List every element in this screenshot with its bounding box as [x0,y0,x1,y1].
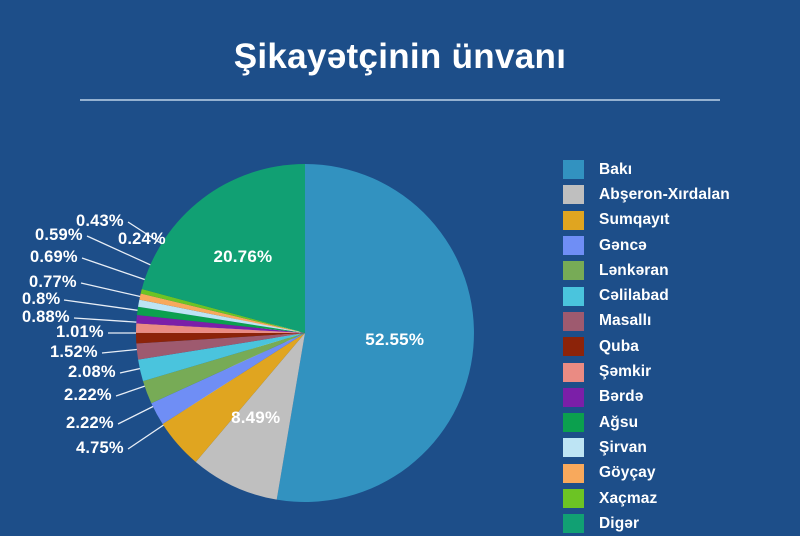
legend-color-swatch [563,489,584,508]
pie-callout-value-label: 2.08% [68,363,116,382]
legend-item[interactable]: Bərdə [563,385,793,410]
legend-item-label: Lənkəran [599,262,669,280]
legend-color-swatch [563,464,584,483]
legend-item[interactable]: Digər [563,511,793,536]
legend-item[interactable]: Şəmkir [563,359,793,384]
legend-color-swatch [563,185,584,204]
legend-item[interactable]: Ağsu [563,410,793,435]
pie-callout-value-label: 4.75% [76,439,124,458]
legend-item-label: Bakı [599,161,632,179]
legend-item-label: Quba [599,338,639,356]
title-block: Şikayətçinin ünvanı [0,38,800,77]
legend-color-swatch [563,287,584,306]
legend-color-swatch [563,413,584,432]
legend-item-label: Masallı [599,312,651,330]
pie-slice-value-label: 8.49% [231,408,280,428]
legend-item-label: Abşeron-Xırdalan [599,186,730,204]
legend-item[interactable]: Masallı [563,309,793,334]
page-title: Şikayətçinin ünvanı [0,38,800,77]
legend-color-swatch [563,388,584,407]
legend-item-label: Ağsu [599,414,638,432]
legend-item-label: Şirvan [599,439,647,457]
pie-callout-value-label: 1.01% [56,323,104,342]
pie-callout-value-label: 2.22% [64,386,112,405]
pie-slice-value-label: 20.76% [213,247,272,267]
pie-chart-infographic: Şikayətçinin ünvanı 52.55%8.49%20.76% 0.… [0,0,800,533]
legend-item[interactable]: Sumqayıt [563,208,793,233]
legend-item[interactable]: Lənkəran [563,258,793,283]
legend-color-swatch [563,312,584,331]
legend-item[interactable]: Göyçay [563,461,793,486]
legend-color-swatch [563,337,584,356]
legend-color-swatch [563,514,584,533]
legend-item[interactable]: Cəlilabad [563,283,793,308]
pie-callout-value-label: 0.8% [22,290,60,309]
legend-item-label: Şəmkir [599,363,651,381]
pie-callout-value-label: 0.24% [118,230,166,249]
pie-callout-value-label: 0.43% [76,212,124,231]
legend-color-swatch [563,438,584,457]
pie-callout-value-label: 0.69% [30,248,78,267]
pie-slice-value-label: 52.55% [365,330,424,350]
legend-item[interactable]: Abşeron-Xırdalan [563,182,793,207]
legend-item-label: Gəncə [599,237,647,255]
legend-item[interactable]: Bakı [563,157,793,182]
pie-callout-value-label: 0.59% [35,226,83,245]
legend-item[interactable]: Xaçmaz [563,486,793,511]
legend-item-label: Bərdə [599,388,643,406]
legend-item-label: Digər [599,515,639,533]
legend-color-swatch [563,160,584,179]
legend-item[interactable]: Quba [563,334,793,359]
legend-color-swatch [563,211,584,230]
legend-color-swatch [563,261,584,280]
title-divider [80,99,720,101]
legend: BakıAbşeron-XırdalanSumqayıtGəncəLənkəra… [563,157,793,536]
legend-item-label: Göyçay [599,464,656,482]
pie-callout-value-label: 2.22% [66,414,114,433]
legend-color-swatch [563,363,584,382]
legend-item[interactable]: Şirvan [563,435,793,460]
legend-item-label: Cəlilabad [599,287,669,305]
legend-item-label: Sumqayıt [599,211,670,229]
legend-color-swatch [563,236,584,255]
legend-item[interactable]: Gəncə [563,233,793,258]
legend-item-label: Xaçmaz [599,490,657,508]
pie-callout-value-label: 1.52% [50,343,98,362]
